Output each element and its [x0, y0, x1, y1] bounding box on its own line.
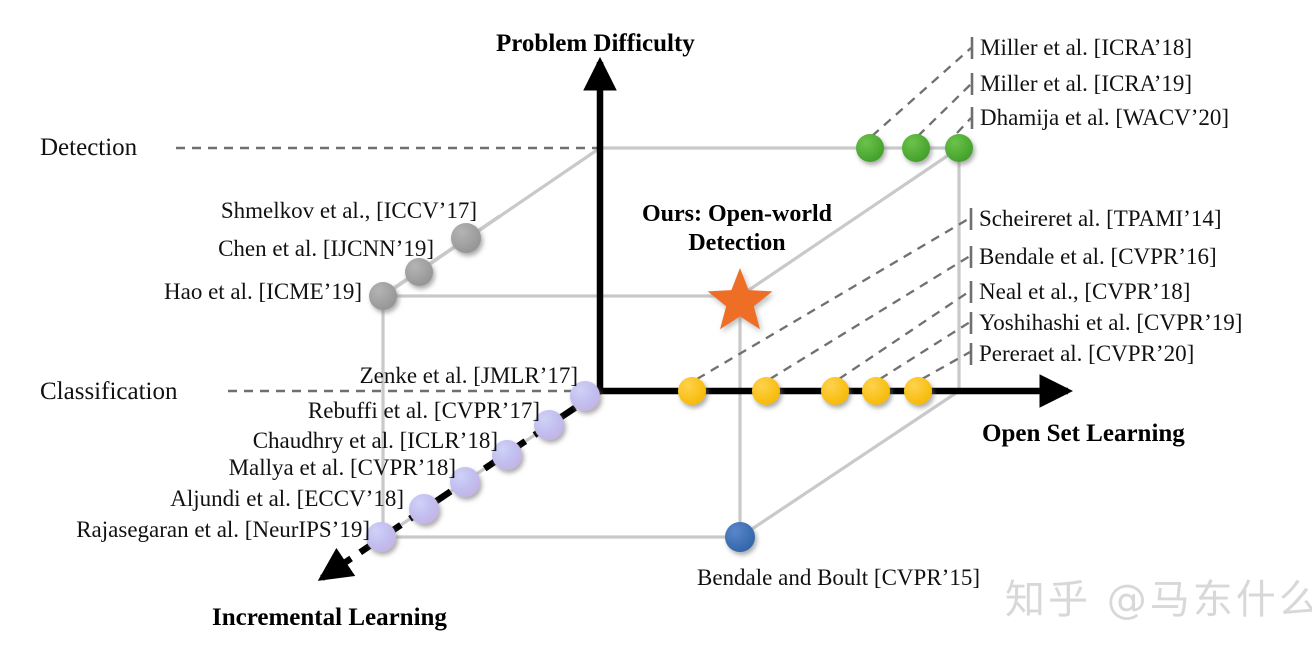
callout-label-rebuffi-cvpr17: Rebuffi et al. [CVPR’17]	[0, 399, 540, 422]
data-point	[945, 134, 973, 162]
callout-label-hao-icme19: Hao et al. [ICME’19]	[0, 280, 362, 303]
data-point	[856, 134, 884, 162]
callout-label-scheirer-tpami14: Scheireret al. [TPAMI’14]	[979, 207, 1222, 230]
callout-label-miller-icra19: Miller et al. [ICRA’19]	[980, 72, 1192, 95]
callout-label-chen-ijcnn19: Chen et al. [IJCNN’19]	[0, 237, 434, 260]
callout-label-neal-cvpr18: Neal et al., [CVPR’18]	[979, 280, 1190, 303]
y-axis-title: Problem Difficulty	[496, 30, 695, 59]
data-point	[409, 494, 439, 524]
callout-label-yoshihashi-cvpr19: Yoshihashi et al. [CVPR’19]	[979, 311, 1242, 334]
watermark: 知乎 @马东什么	[1005, 567, 1312, 625]
data-point	[405, 258, 433, 286]
axis-tick-detection: Detection	[40, 134, 137, 162]
callout-label-chaudhry-iclr18: Chaudhry et al. [ICLR’18]	[0, 429, 498, 452]
data-point	[902, 134, 930, 162]
x-axis-title: Open Set Learning	[982, 420, 1185, 449]
z-axis-title: Incremental Learning	[212, 604, 447, 633]
ours-label-line2: Detection	[607, 229, 867, 258]
data-points-green[interactable]	[856, 134, 973, 162]
ours-label-line1: Ours: Open-world	[607, 200, 867, 229]
data-point-blue[interactable]	[725, 522, 755, 552]
callout-label-dhamija-wacv20: Dhamija et al. [WACV’20]	[980, 106, 1229, 129]
callout-label-perera-cvpr20: Pereraet al. [CVPR’20]	[979, 342, 1194, 365]
ours-highlight-label: Ours: Open-world Detection	[607, 200, 867, 258]
data-point	[678, 377, 706, 405]
data-point	[366, 522, 396, 552]
data-point	[369, 282, 397, 310]
callout-label-aljundi-eccv18: Aljundi et al. [ECCV’18]	[0, 487, 404, 510]
axis-tick-leaders	[176, 148, 598, 391]
data-point	[451, 223, 481, 253]
callout-label-miller-icra18: Miller et al. [ICRA’18]	[980, 36, 1192, 59]
data-point	[752, 377, 780, 405]
data-point	[904, 377, 932, 405]
data-point	[862, 377, 890, 405]
data-point	[821, 377, 849, 405]
figure-canvas: Problem Difficulty Open Set Learning Inc…	[0, 0, 1312, 651]
green-callout-leaders	[872, 48, 971, 136]
callout-label-shmelkov-iccv17: Shmelkov et al., [ICCV’17]	[0, 199, 477, 222]
callout-label-bendale-cvpr16: Bendale et al. [CVPR’16]	[979, 245, 1217, 268]
data-point	[725, 522, 755, 552]
callout-label-zenke-jmlr17: Zenke et al. [JMLR’17]	[0, 364, 578, 387]
callout-label-bendale-boult-cvpr15: Bendale and Boult [CVPR’15]	[697, 566, 980, 589]
callout-label-rajasegaran-neurips19: Rajasegaran et al. [NeurIPS’19]	[0, 518, 370, 541]
callout-label-mallya-cvpr18: Mallya et al. [CVPR’18]	[0, 456, 456, 479]
